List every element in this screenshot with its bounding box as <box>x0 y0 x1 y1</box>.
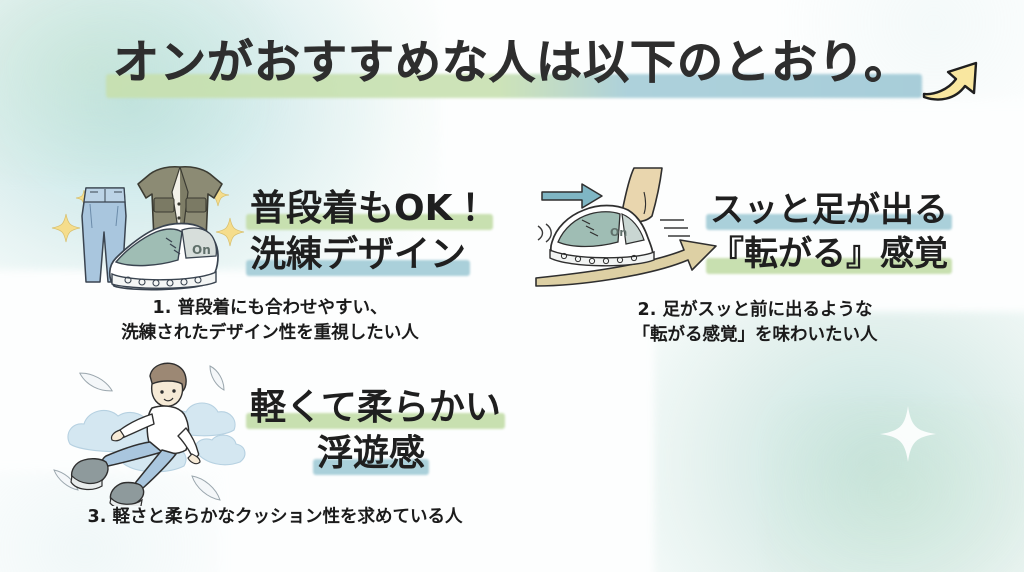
benefit-3-caption: 3. 軽さと柔らかなクッション性を求めている人 <box>40 505 510 530</box>
benefit-3-caption-line-1: 3. 軽さと柔らかなクッション性を求めている人 <box>88 507 463 527</box>
benefit-1-headline-line-2: 洗練デザイン <box>246 232 470 278</box>
benefit-2-caption: 2. 足がスッと前に出るような 「転がる感覚」を味わいたい人 <box>565 298 945 349</box>
benefit-3-headline: 軽くて柔らかい 浮遊感 <box>246 385 496 477</box>
benefit-2-headline: スッと足が出る 『転がる』感覚 <box>706 188 952 276</box>
slide-canvas: オンがおすすめな人は以下のとおり。 <box>0 0 1024 572</box>
curved-up-right-arrow-icon <box>918 32 994 108</box>
benefit-3-headline-line-2: 浮遊感 <box>313 431 429 477</box>
benefit-2-headline-line-1: スッと足が出る <box>706 188 952 232</box>
benefit-2-caption-line-2: 「転がる感覚」を味わいたい人 <box>633 325 878 345</box>
teal-straight-arrow-icon <box>542 184 602 208</box>
slide-title-block: オンがおすすめな人は以下のとおり。 <box>0 16 1024 102</box>
jeans-jacket-sneaker-illustration: On <box>46 158 258 292</box>
on-sneaker-icon: On <box>110 224 218 290</box>
benefit-1-headline-line-1: 普段着もOK！ <box>246 186 493 232</box>
benefit-3-headline-line-1: 軽くて柔らかい <box>246 385 505 431</box>
background-wash-bottom-right <box>654 312 1024 572</box>
background-wash-bottom-right-green <box>764 402 1024 572</box>
sparkle-icon <box>878 404 938 464</box>
page-title: オンがおすすめな人は以下のとおり。 <box>0 26 1024 92</box>
person-floating-on-clouds-illustration <box>44 356 258 506</box>
benefit-1-caption-line-1: 1. 普段着にも合わせやすい、 <box>153 298 388 318</box>
svg-text:On: On <box>610 226 627 239</box>
benefit-2-headline-line-2: 『転がる』感覚 <box>706 232 952 276</box>
benefit-2-caption-line-1: 2. 足がスッと前に出るような <box>638 300 873 320</box>
benefit-1-headline: 普段着もOK！ 洗練デザイン <box>246 186 493 278</box>
svg-text:On: On <box>192 243 211 257</box>
foot-rolling-forward-illustration: On <box>534 166 730 292</box>
benefit-1-caption-line-2: 洗練されたデザイン性を重視したい人 <box>121 323 419 343</box>
benefit-1-caption: 1. 普段着にも合わせやすい、 洗練されたデザイン性を重視したい人 <box>60 296 480 347</box>
